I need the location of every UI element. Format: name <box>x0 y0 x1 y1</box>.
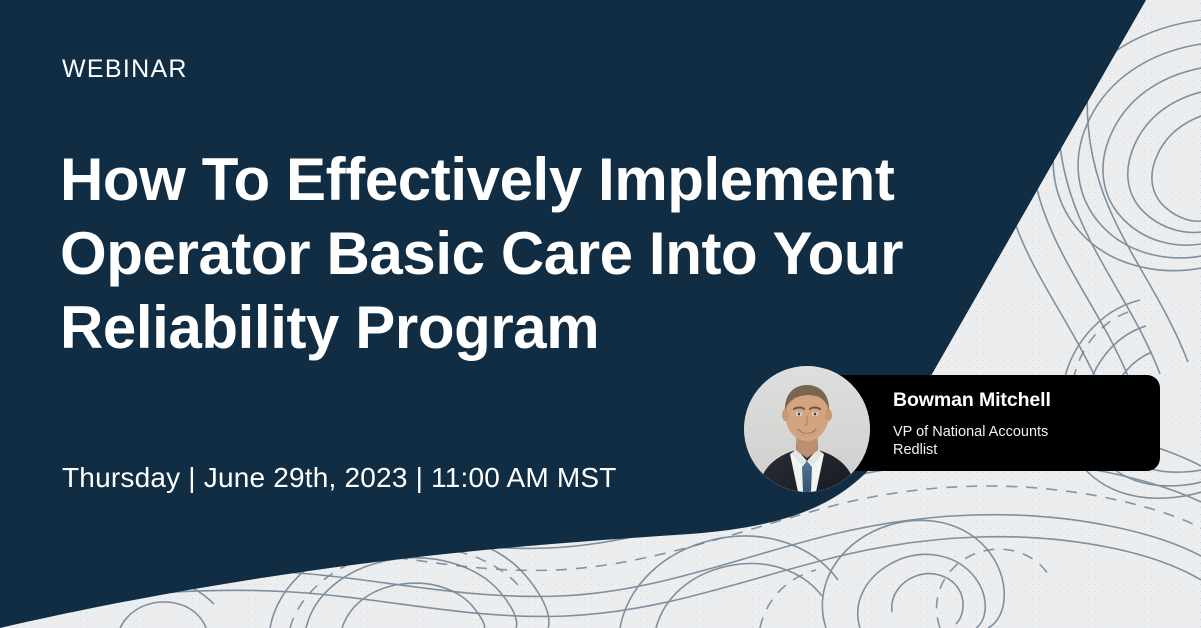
headshot-portrait-image <box>744 366 870 492</box>
title-line-2: Operator Basic Care Into Your <box>60 217 1050 291</box>
eyebrow-label: WEBINAR <box>62 57 188 82</box>
speaker-organization: Redlist <box>893 441 937 459</box>
speaker-role: VP of National Accounts <box>893 423 1048 441</box>
speaker-name: Bowman Mitchell <box>893 390 1051 411</box>
webinar-datetime: Thursday | June 29th, 2023 | 11:00 AM MS… <box>62 461 617 495</box>
title-line-3: Reliability Program <box>60 291 1050 365</box>
title-line-1: How To Effectively Implement <box>60 143 1050 217</box>
speaker-headshot <box>744 366 870 492</box>
page-title: How To Effectively Implement Operator Ba… <box>60 143 1050 365</box>
content-layer: WEBINAR How To Effectively Implement Ope… <box>0 0 1201 628</box>
webinar-promo-graphic: WEBINAR How To Effectively Implement Ope… <box>0 0 1201 628</box>
